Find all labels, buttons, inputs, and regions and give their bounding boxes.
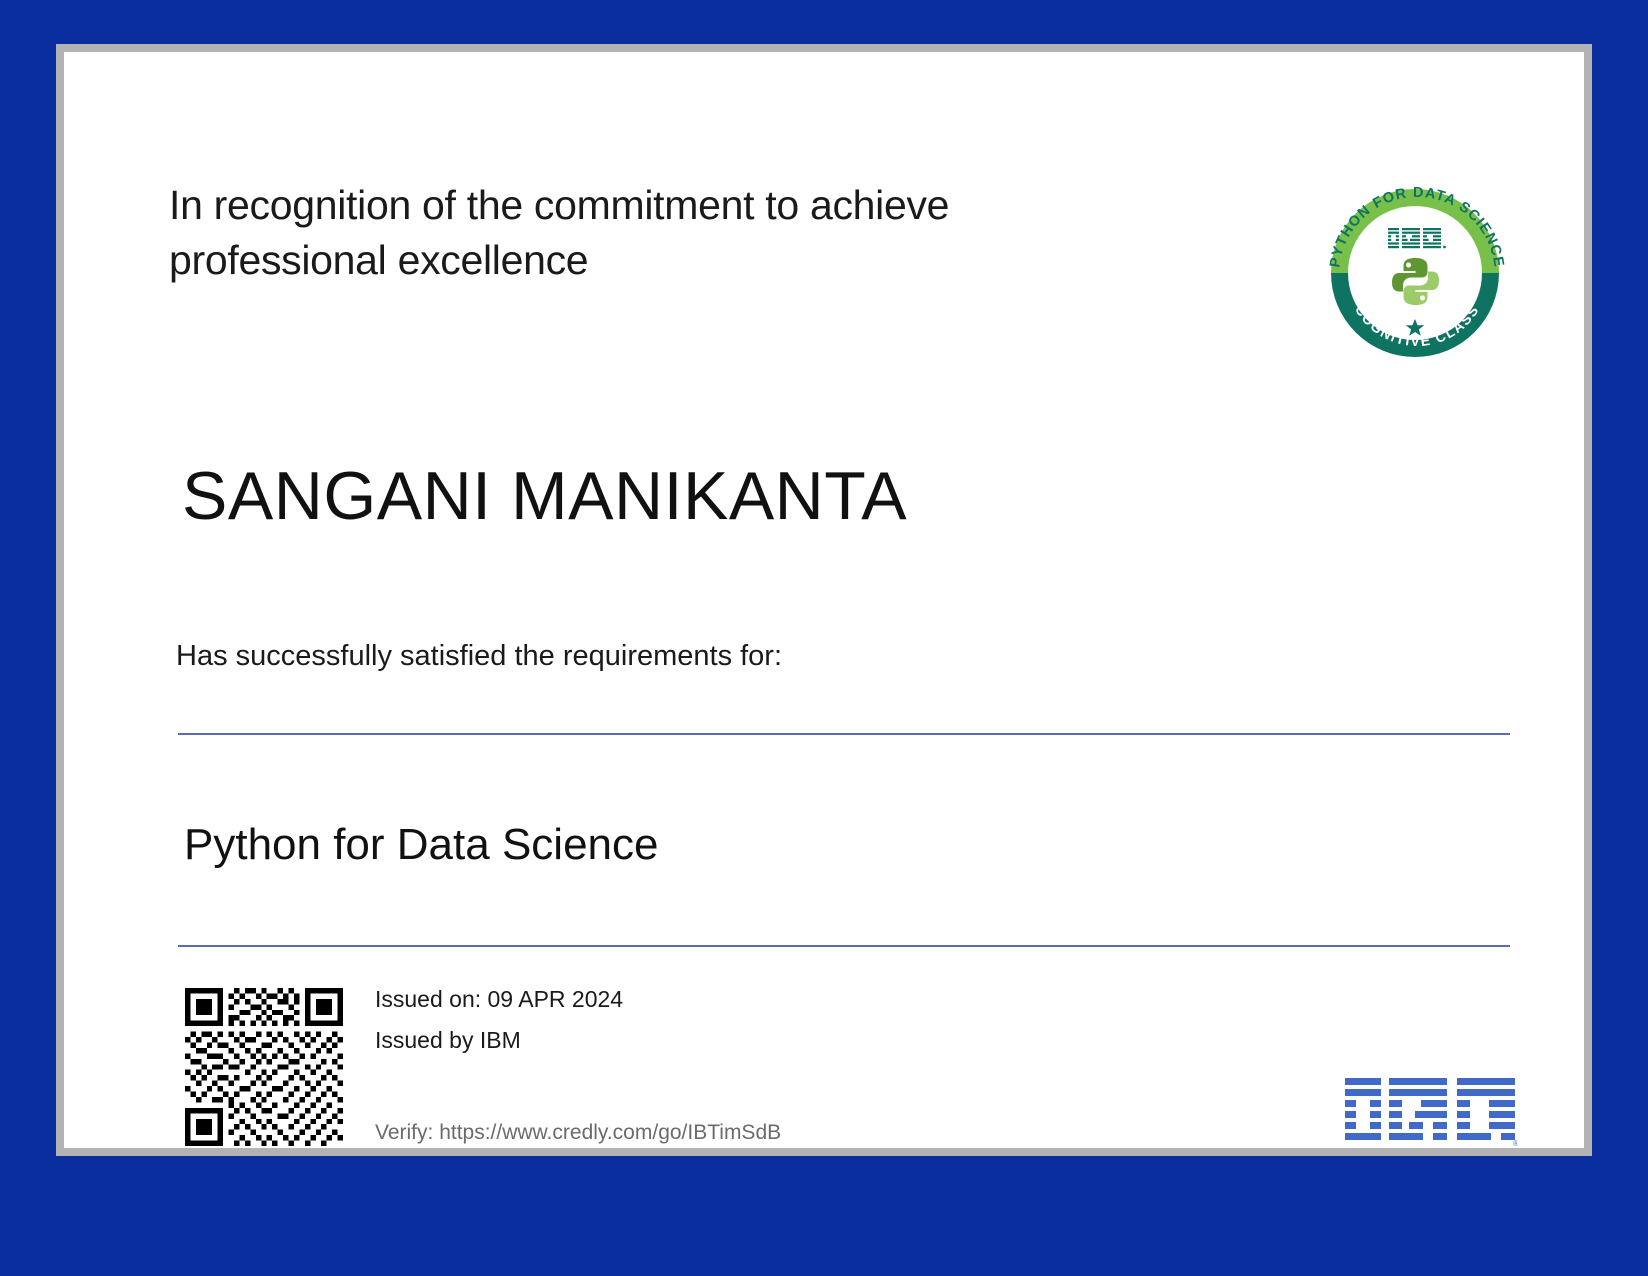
verify-link[interactable]: Verify: https://www.credly.com/go/IBTimS… xyxy=(375,1121,781,1145)
requirements-label: Has successfully satisfied the requireme… xyxy=(176,640,782,673)
page-title: In recognition of the commitment to achi… xyxy=(169,178,1169,287)
ibm-logo: ® xyxy=(1345,1078,1517,1148)
issued-by-label: Issued by IBM xyxy=(375,1029,623,1052)
issue-details: Issued on: 09 APR 2024 Issued by IBM xyxy=(375,988,623,1052)
certificate: In recognition of the commitment to achi… xyxy=(0,0,1648,1276)
issued-on-label: Issued on: 09 APR 2024 xyxy=(375,988,623,1011)
divider-bottom xyxy=(178,945,1510,947)
ibm-trademark: ® xyxy=(1513,1139,1517,1148)
divider-top xyxy=(178,733,1510,735)
recipient-name: SANGANI MANIKANTA xyxy=(182,457,907,535)
course-badge: PYTHON FOR DATA SCIENCE COGNITIVE CLASS xyxy=(1318,176,1516,370)
course-title: Python for Data Science xyxy=(184,820,658,870)
certificate-paper: In recognition of the commitment to achi… xyxy=(64,52,1584,1148)
qr-code[interactable] xyxy=(185,988,343,1146)
